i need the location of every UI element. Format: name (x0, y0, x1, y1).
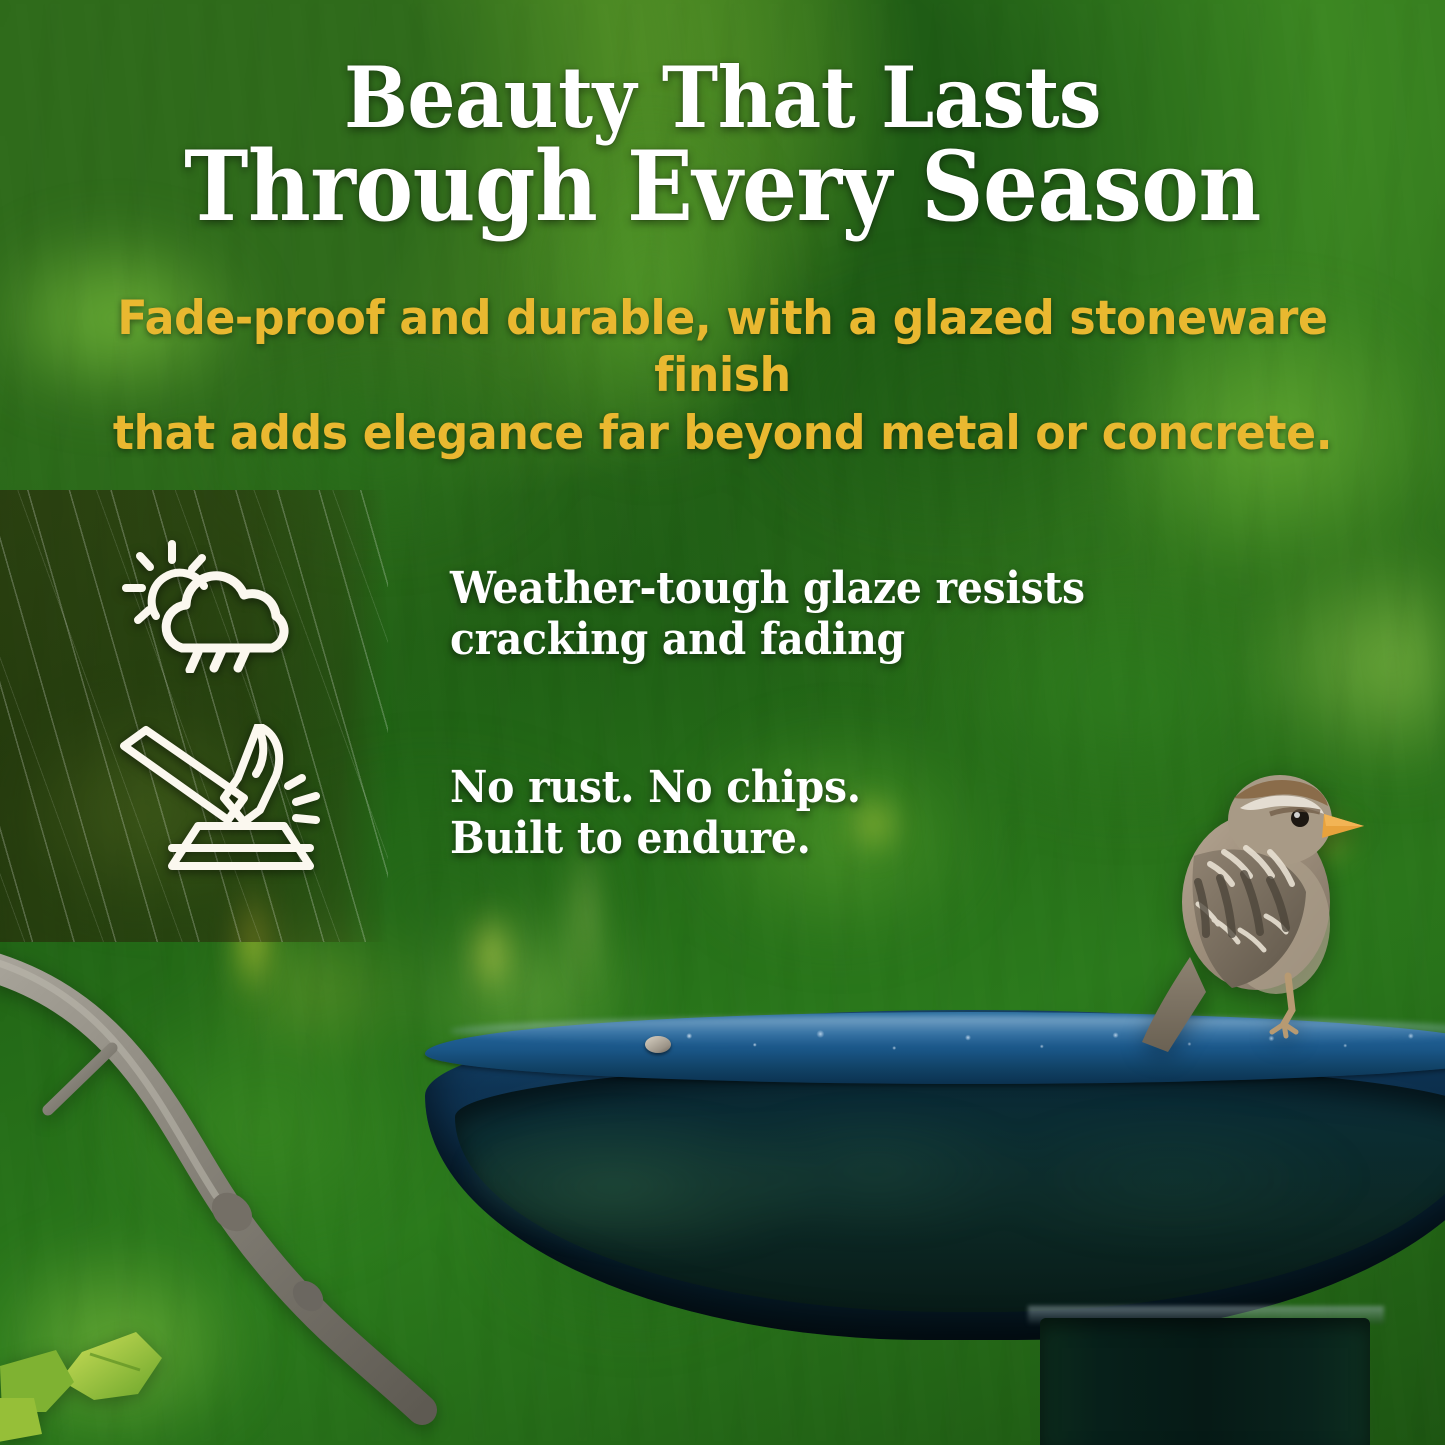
feature-text-1: Weather-tough glaze resists cracking and… (450, 563, 1157, 665)
sun-cloud-rain-icon (116, 538, 326, 673)
marketing-banner: Beauty That LastsThrough Every Season Fa… (0, 0, 1445, 1445)
headline-line-2: Through Every Season (72, 139, 1373, 234)
tree-branch (0, 950, 550, 1445)
hammer-anvil-icon (116, 724, 328, 872)
subheadline: Fade-proof and durable, with a glazed st… (87, 290, 1359, 462)
page-title: Beauty That LastsThrough Every Season (72, 56, 1373, 234)
feature-text-2: No rust. No chips. Built to endure. (450, 762, 1101, 864)
sparrow-bird (1128, 752, 1378, 1052)
